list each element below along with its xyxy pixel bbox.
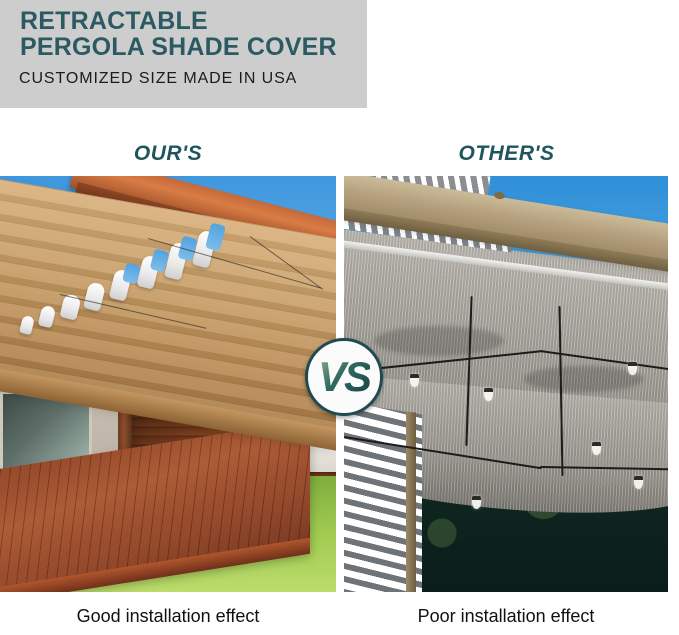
column-heading-others: OTHER'S: [344, 142, 669, 166]
light-bulb: [410, 374, 419, 387]
cloth-sag: [524, 366, 644, 392]
photo-poor-installation: [344, 176, 668, 592]
support-post: [406, 411, 416, 592]
photo-good-scene: [0, 176, 336, 592]
light-bulb: [592, 442, 601, 455]
caption-poor-installation: Poor installation effect: [344, 606, 668, 627]
product-comparison-graphic: RETRACTABLE PERGOLA SHADE COVER CUSTOMIZ…: [0, 0, 679, 635]
banner-title: RETRACTABLE PERGOLA SHADE COVER: [20, 8, 360, 60]
header-banner: RETRACTABLE PERGOLA SHADE COVER CUSTOMIZ…: [0, 0, 367, 108]
vs-badge-label: VS: [318, 356, 370, 398]
cloth-sag: [374, 326, 504, 356]
light-bulb: [634, 476, 643, 489]
vs-badge: VS: [305, 338, 383, 416]
column-heading-ours: OUR'S: [0, 142, 336, 166]
light-bulb: [472, 496, 481, 509]
light-bulb: [628, 362, 637, 375]
caption-good-installation: Good installation effect: [0, 606, 336, 627]
banner-subtitle: CUSTOMIZED SIZE MADE IN USA: [19, 70, 297, 88]
light-bulb: [484, 388, 493, 401]
photo-good-installation: [0, 176, 336, 592]
photo-poor-scene: [344, 176, 668, 592]
